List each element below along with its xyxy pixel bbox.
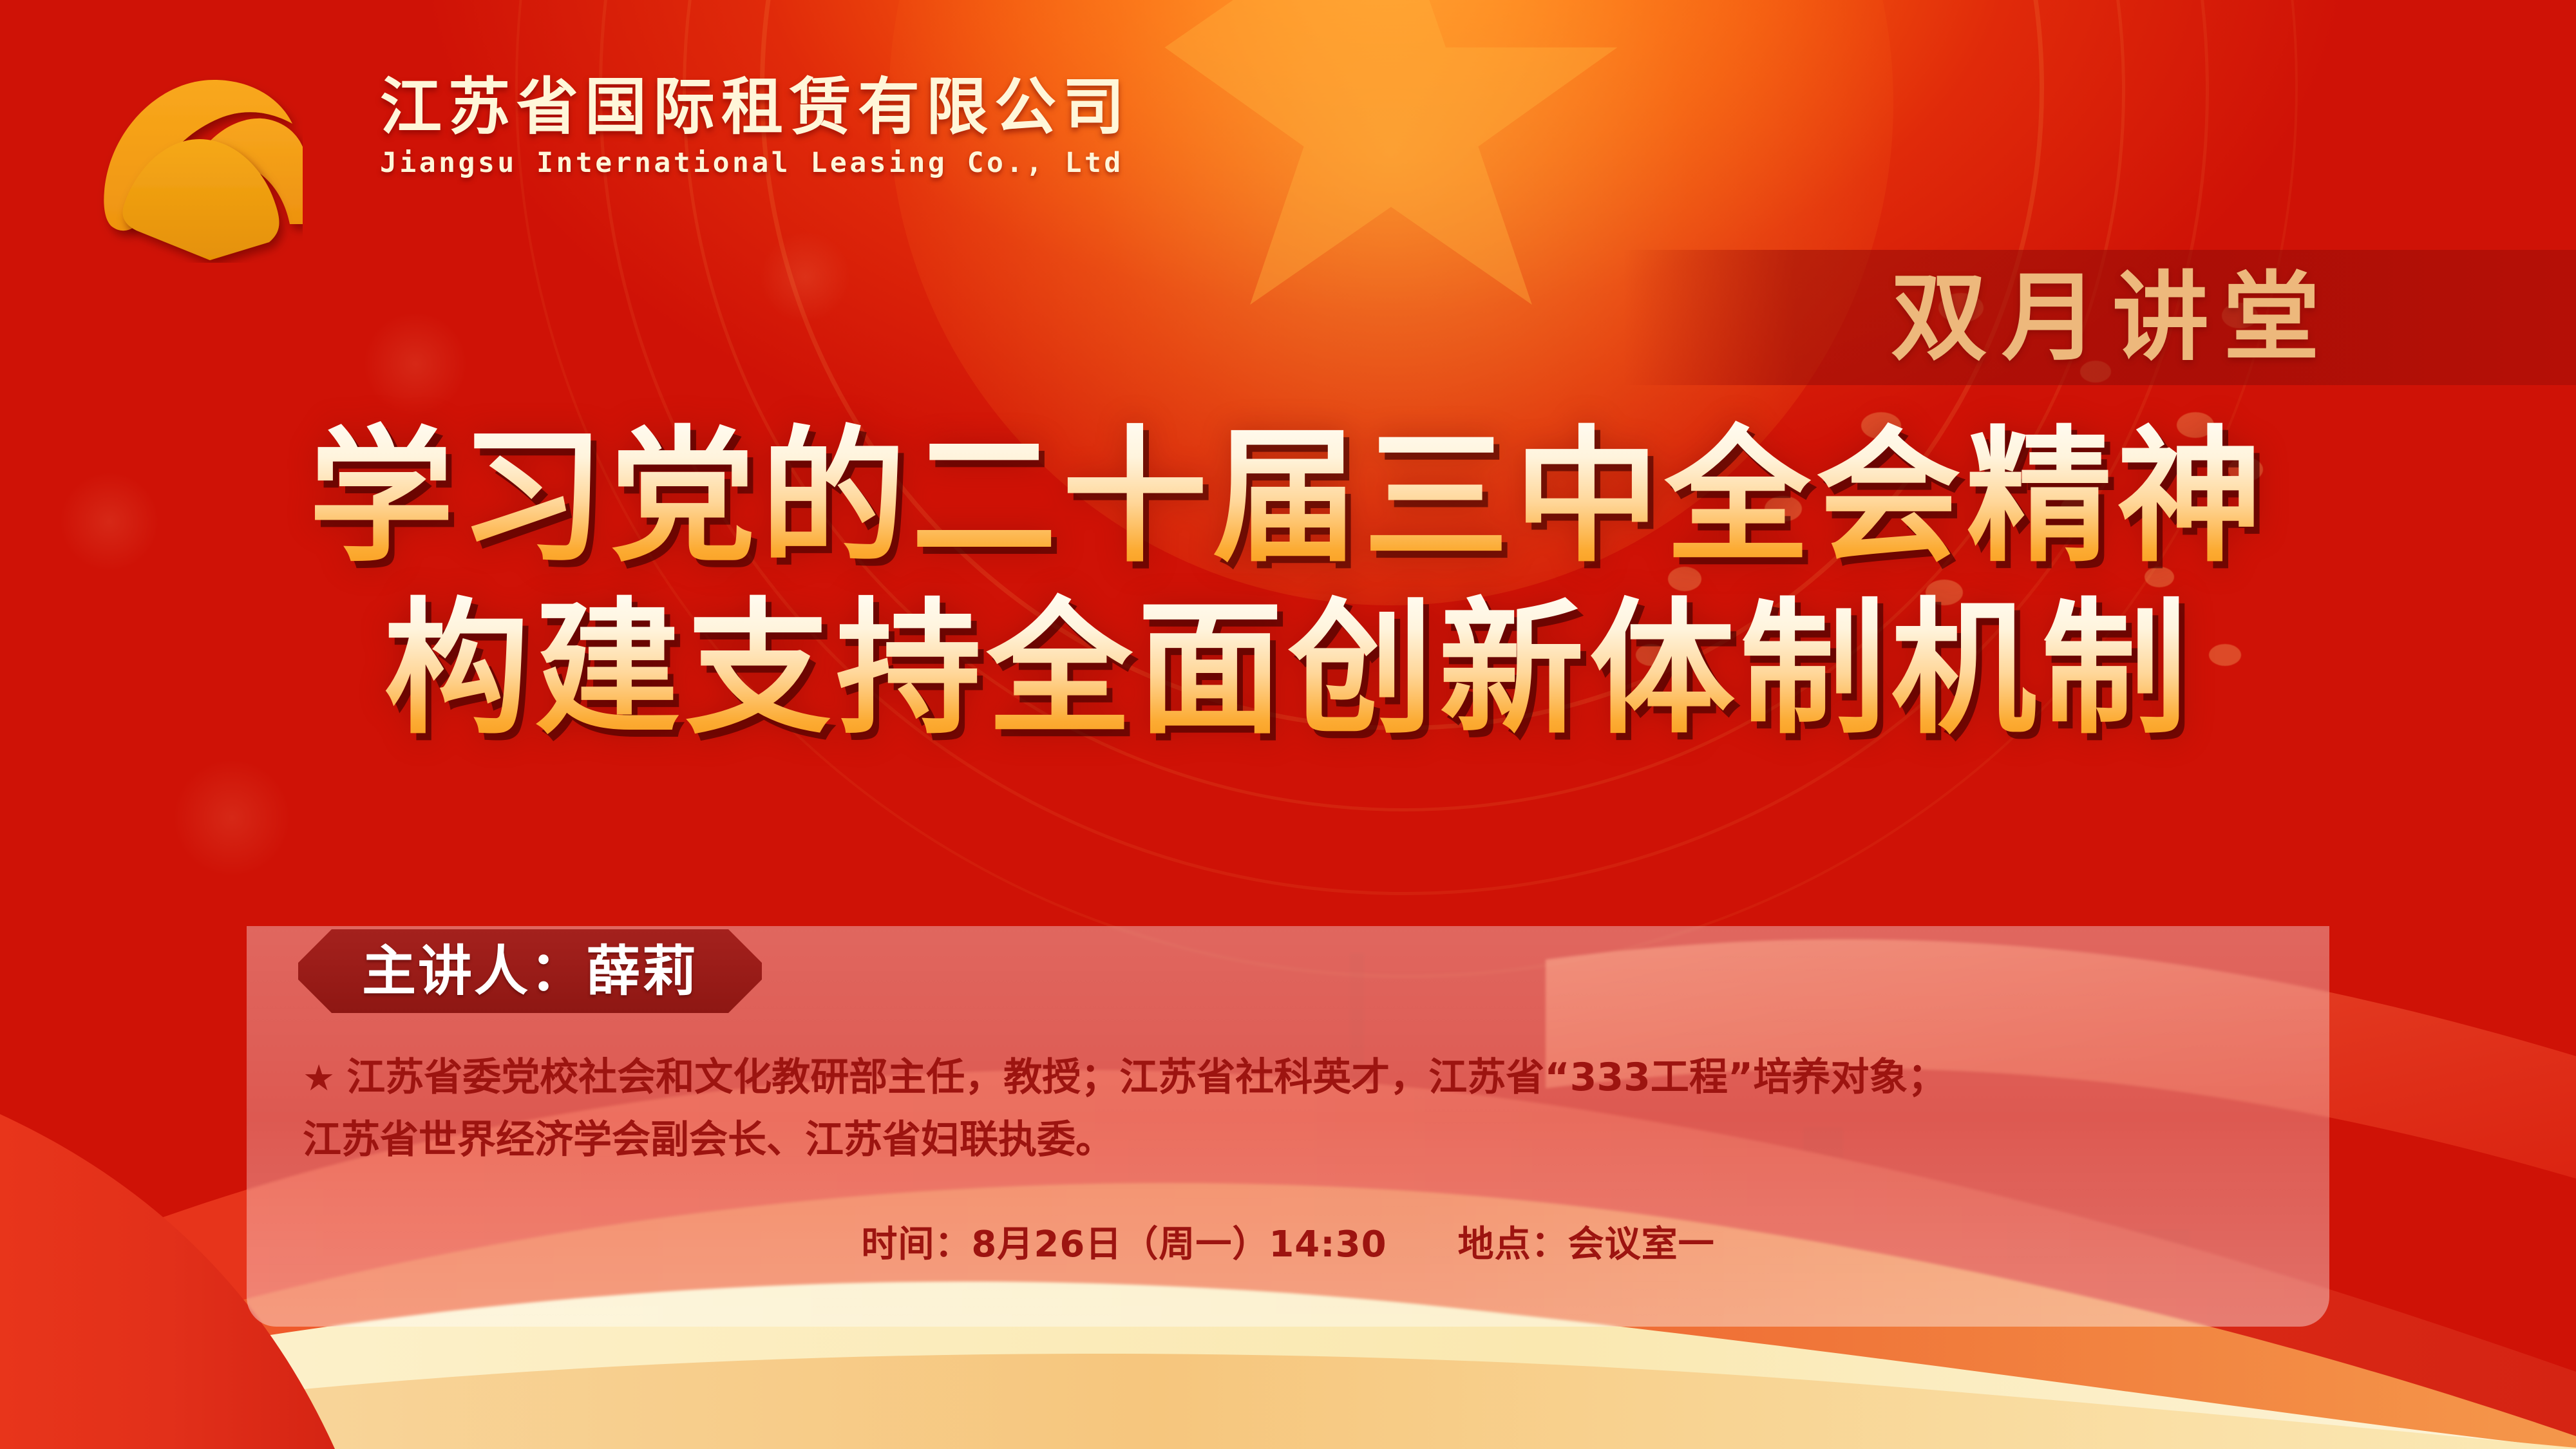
- time-label: 时间：: [861, 1224, 971, 1265]
- leasing-logo-icon: [97, 70, 303, 263]
- poster-header: 江苏省国际租赁有限公司 Jiangsu International Leasin…: [0, 0, 2576, 258]
- speaker-badge: 主讲人：薛莉: [298, 929, 762, 1013]
- speaker-bio-line-1: ★江苏省委党校社会和文化教研部主任，教授；江苏省社科英才，江苏省“333工程”培…: [303, 1046, 2286, 1109]
- brand-wordmark: 江苏省国际租赁有限公司 Jiangsu International Leasin…: [380, 76, 1131, 177]
- event-poster: 江苏省国际租赁有限公司 Jiangsu International Leasin…: [0, 0, 2576, 1449]
- place-label: 地点：: [1458, 1224, 1568, 1265]
- speaker-badge-label: 主讲人：薛莉: [362, 944, 698, 998]
- title-line-2: 构建支持全面创新体制机制: [0, 584, 2576, 756]
- poster-title-block: 学习党的二十届三中全会精神 构建支持全面创新体制机制: [0, 412, 2576, 755]
- time-value: 8月26日（周一）14:30: [971, 1224, 1387, 1265]
- speaker-bio: ★江苏省委党校社会和文化教研部主任，教授；江苏省社科英才，江苏省“333工程”培…: [303, 1046, 2286, 1171]
- place-value: 会议室一: [1568, 1224, 1715, 1265]
- bio-text-1: 江苏省委党校社会和文化教研部主任，教授；江苏省社科英才，江苏省“333工程”培养…: [346, 1055, 1946, 1100]
- brand-name-en: Jiangsu International Leasing Co., Ltd: [380, 149, 1131, 177]
- title-line-1: 学习党的二十届三中全会精神: [0, 412, 2576, 584]
- event-meta: 时间：8月26日（周一）14:30地点：会议室一: [247, 1227, 2329, 1263]
- brand-name-cn: 江苏省国际租赁有限公司: [380, 76, 1131, 138]
- star-icon: ★: [303, 1057, 335, 1099]
- series-title: 双月讲堂: [1687, 256, 2537, 379]
- speaker-bio-line-2: 江苏省世界经济学会副会长、江苏省妇联执委。: [303, 1109, 2286, 1171]
- decor-sparkle: [148, 734, 316, 902]
